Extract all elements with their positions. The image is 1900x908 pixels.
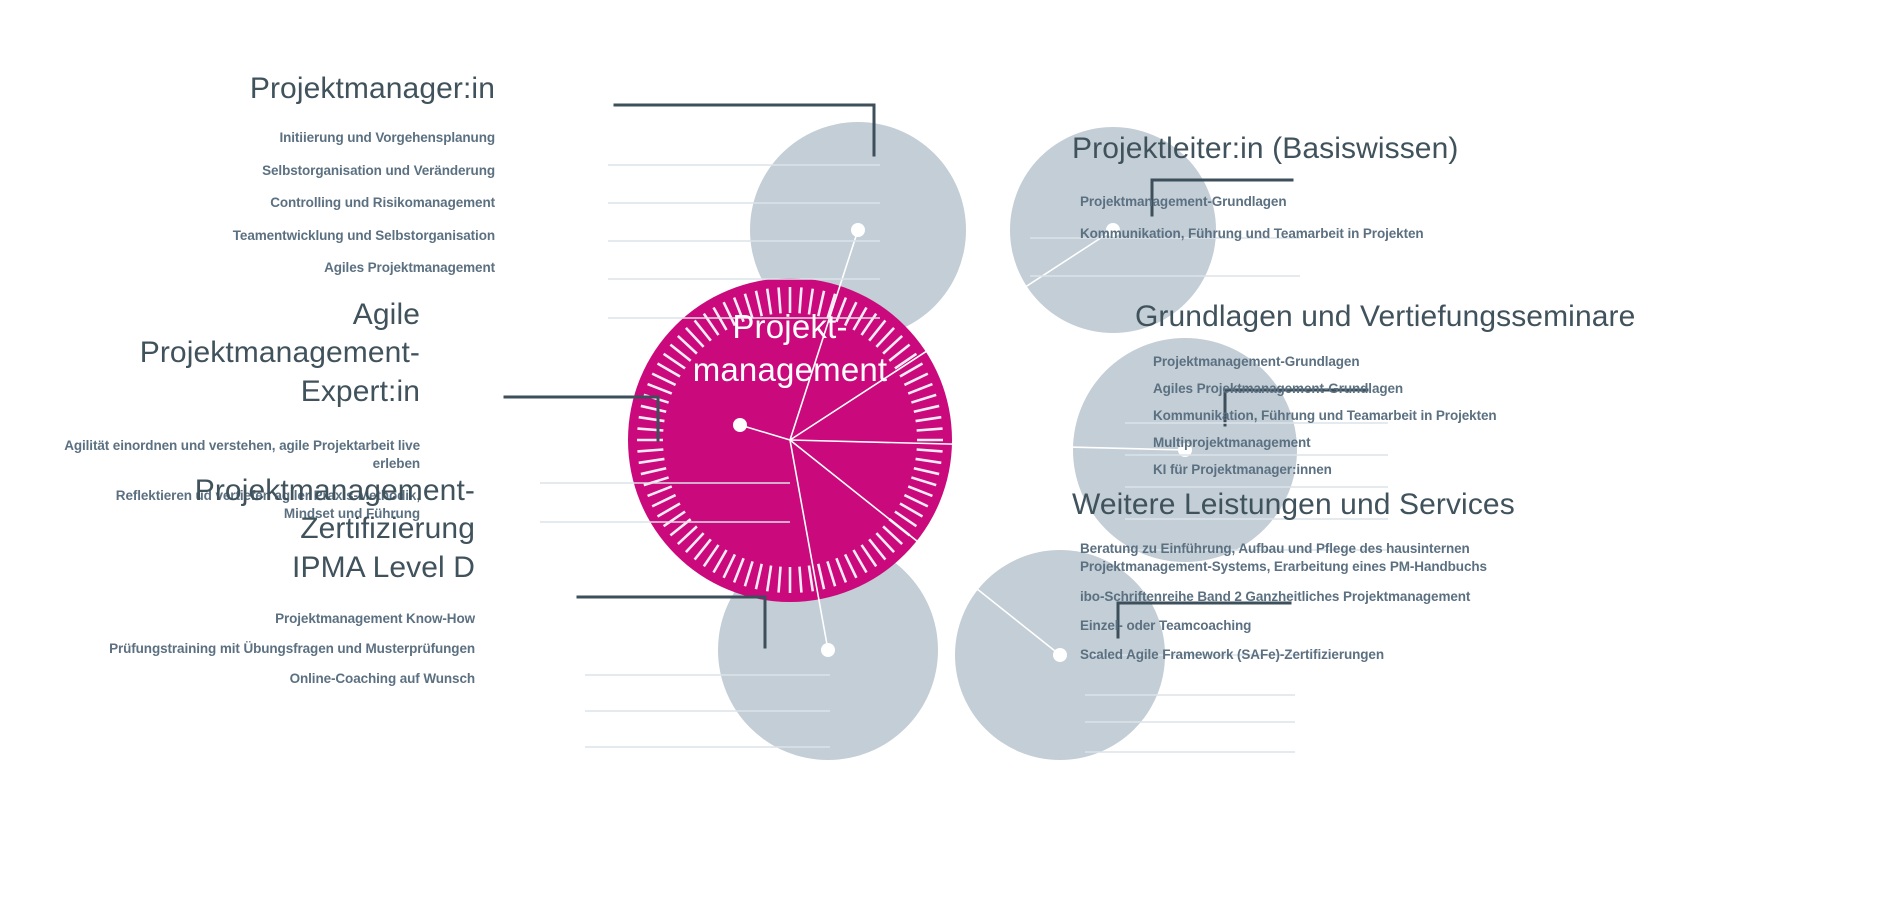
list-item: Kommunikation, Führung und Teamarbeit in…: [1080, 226, 1572, 241]
infographic-canvas: Projekt- management Projektmanager:in In…: [0, 0, 1900, 908]
group-items-projektmanager: Initiierung und Vorgehensplanung Selbsto…: [150, 130, 495, 275]
group-weitere: Weitere Leistungen und Services Beratung…: [1072, 486, 1592, 675]
list-item: Controlling und Risikomanagement: [150, 195, 495, 210]
group-projektmanager: Projektmanager:in Initiierung und Vorgeh…: [150, 70, 495, 293]
group-title-zertifizierung: Projektmanagement-Zertifizierung IPMA Le…: [60, 472, 475, 587]
list-item: Scaled Agile Framework (SAFe)-Zertifizie…: [1080, 646, 1592, 664]
petal-dot-projektmanager: [851, 223, 865, 237]
list-item: Projektmanagement-Grundlagen: [1153, 354, 1695, 369]
list-item: Initiierung und Vorgehensplanung: [150, 130, 495, 145]
group-projektleiter: Projektleiter:in (Basiswissen) Projektma…: [1072, 130, 1572, 258]
petal-dot-weitere: [1053, 648, 1067, 662]
list-item: Einzel- oder Teamcoaching: [1080, 617, 1592, 635]
list-item: Prüfungstraining mit Übungsfragen und Mu…: [60, 641, 475, 656]
group-title-projektleiter: Projektleiter:in (Basiswissen): [1072, 130, 1572, 168]
list-item: Teamentwicklung und Selbstorganisation: [150, 228, 495, 243]
list-item: Beratung zu Einführung, Aufbau und Pfleg…: [1080, 540, 1592, 576]
list-item: Agiles Projektmanagement-Grundlagen: [1153, 381, 1695, 396]
group-items-grundlagen: Projektmanagement-Grundlagen Agiles Proj…: [1153, 354, 1695, 477]
list-item: Kommunikation, Führung und Teamarbeit in…: [1153, 408, 1695, 423]
group-grundlagen: Grundlagen und Vertiefungsseminare Proje…: [1135, 298, 1695, 489]
list-item: Projektmanagement-Grundlagen: [1080, 194, 1572, 209]
group-items-projektleiter: Projektmanagement-Grundlagen Kommunikati…: [1080, 194, 1572, 241]
group-zertifizierung: Projektmanagement-Zertifizierung IPMA Le…: [60, 472, 475, 701]
petal-dot-zertifizierung: [821, 643, 835, 657]
group-title-agile-expert: Agile Projektmanagement-Expert:in: [60, 296, 420, 411]
group-items-zertifizierung: Projektmanagement Know-How Prüfungstrain…: [60, 611, 475, 686]
petal-dot-agile-expert: [733, 418, 747, 432]
list-item: Agiles Projektmanagement: [150, 260, 495, 275]
list-item: ibo-Schriftenreihe Band 2 Ganzheitliches…: [1080, 588, 1592, 606]
list-item: Projektmanagement Know-How: [60, 611, 475, 626]
group-title-grundlagen: Grundlagen und Vertiefungsseminare: [1135, 298, 1695, 336]
group-items-weitere: Beratung zu Einführung, Aufbau und Pfleg…: [1080, 540, 1592, 663]
list-item: Online-Coaching auf Wunsch: [60, 671, 475, 686]
list-item: Selbstorganisation und Veränderung: [150, 163, 495, 178]
list-item: KI für Projektmanager:innen: [1153, 462, 1695, 477]
group-title-projektmanager: Projektmanager:in: [150, 70, 495, 108]
group-title-weitere: Weitere Leistungen und Services: [1072, 486, 1592, 524]
list-item: Agilität einordnen und verstehen, agile …: [60, 437, 420, 473]
list-item: Multiprojektmanagement: [1153, 435, 1695, 450]
